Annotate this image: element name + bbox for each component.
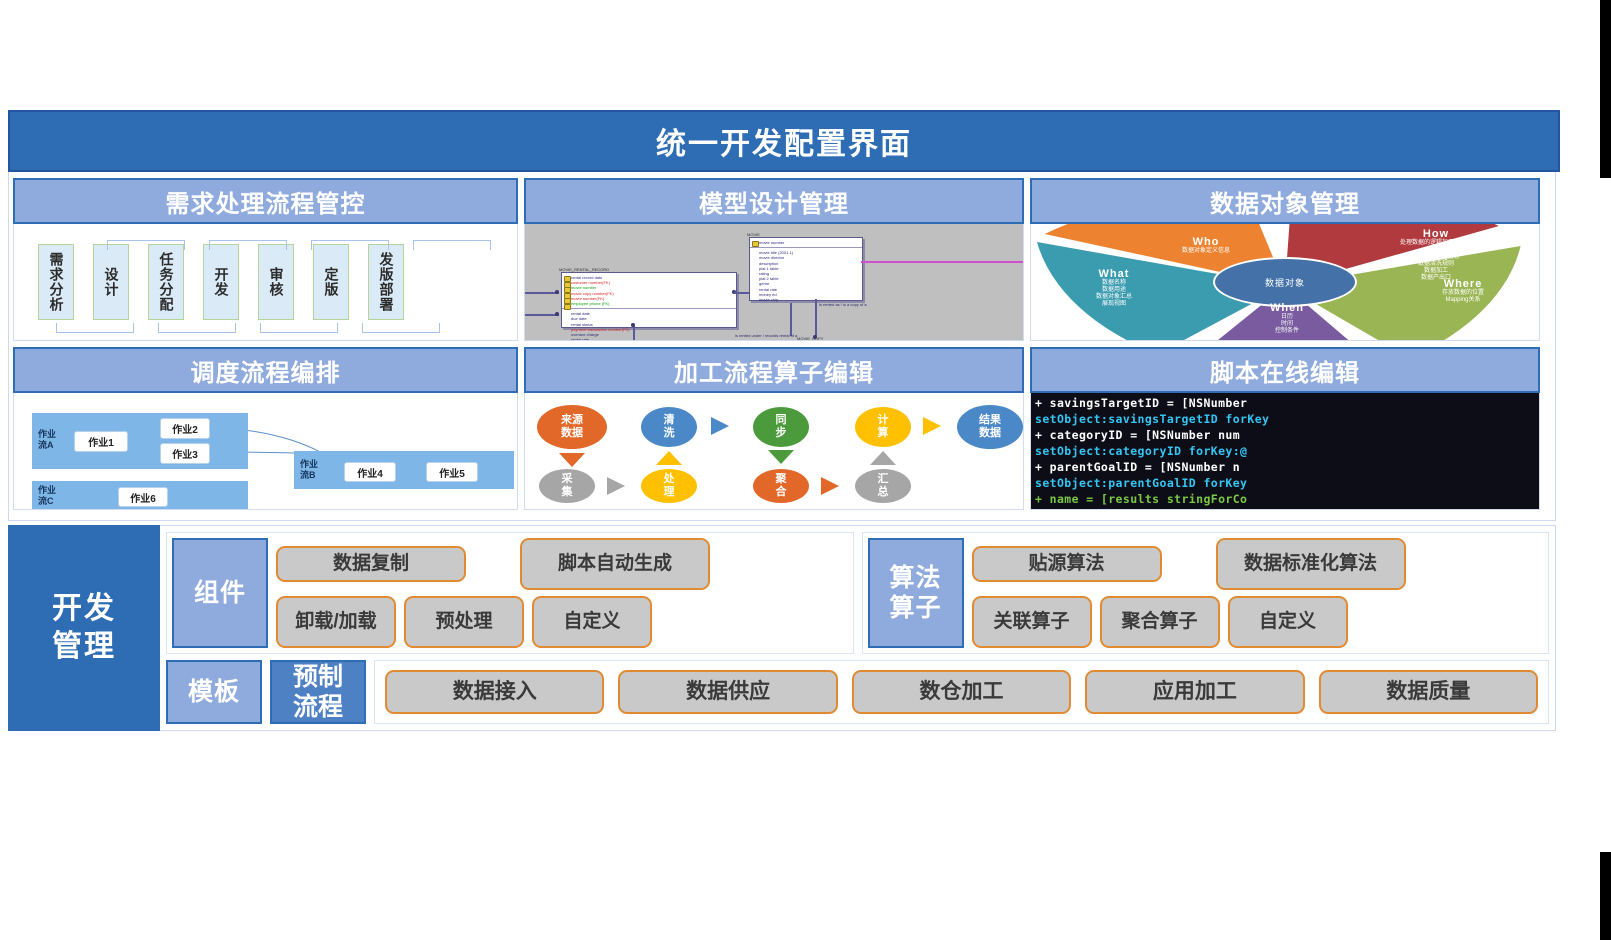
operator-label-line1: 结果	[979, 414, 1001, 427]
operator-label-line2: 合	[776, 486, 787, 499]
donut-label-what-cn: 数据对象汇总	[1049, 294, 1179, 301]
operator-label-line2: 数据	[561, 427, 583, 440]
code-line: setObject:categoryID forKey:@	[1035, 443, 1539, 459]
panel-schedule-flow-header: 调度流程编排	[13, 347, 518, 393]
donut-label-how-cn: 字段mapping信息	[1351, 254, 1521, 261]
algorithm-chip-list: 贴源算法 数据标准化算法 关联算子 聚合算子 自定义	[964, 538, 1544, 648]
step-label: 设计	[103, 267, 120, 297]
page-title: 统一开发配置界面	[8, 110, 1560, 172]
chip-unload-load[interactable]: 卸载/加载	[276, 596, 396, 648]
algorithm-group[interactable]: 算法 算子 贴源算法 数据标准化算法 关联算子 聚合算子 自定义	[862, 532, 1550, 654]
panel-schedule-flow[interactable]: 调度流程编排 作业流A 作业1 作业2	[13, 347, 518, 510]
operator-label-line2: 数据	[979, 427, 1001, 440]
arrow-right-gray-icon	[607, 477, 625, 495]
donut-label-where: Where 存放数据的位置 Mapping关系	[1393, 280, 1533, 304]
flow-connector-bottom-3	[260, 323, 338, 333]
operator-node-source[interactable]: 来源数据	[537, 405, 607, 449]
er-field: employee phone (FK)	[562, 301, 736, 306]
code-editor[interactable]: + savingsTargetID = [NSNumber setObject:…	[1031, 393, 1539, 509]
slide-root: 统一开发配置界面 需求处理流程管控 需求分析	[8, 110, 1592, 731]
operator-label-line1: 处	[664, 473, 675, 486]
arrow-right-orange-icon	[821, 477, 839, 495]
job-flow-canvas[interactable]: 作业流A 作业1 作业2 作业3 作业流B 作业4 作业5 作业流C 作业6	[14, 393, 517, 509]
chip-source-algorithm[interactable]: 贴源算法	[972, 546, 1162, 582]
donut-label-what: What 数据名称 数据用途 数据对象汇总 展现视图	[1049, 270, 1179, 308]
flow-connector-bottom-2	[158, 323, 236, 333]
donut-label-who-cn: 数据对象定义信息	[1136, 248, 1276, 255]
arrow-down-green-icon	[768, 450, 794, 464]
er-edge	[815, 299, 817, 337]
step-label: 发版部署	[378, 252, 395, 312]
arrow-right-blue-icon	[711, 417, 729, 435]
donut-label-what-en: What	[1049, 270, 1179, 278]
operator-label-line2: 集	[562, 486, 573, 499]
panel-operator-edit-body: 来源数据 采集 处理 清洗	[524, 393, 1024, 510]
dev-management-title: 开发 管理	[8, 525, 160, 731]
five-w-donut-chart[interactable]: 数据对象 Who 数据对象定义信息 How 处理数据的逻辑加工及规则 定义 字段…	[1031, 224, 1539, 340]
job-node-6[interactable]: 作业6	[118, 487, 168, 507]
job-node-4[interactable]: 作业4	[344, 462, 396, 482]
template-group[interactable]: 模板 预制 流程 数据接入 数据供应 数仓加工 应用加工 数据质量	[166, 660, 1549, 724]
algorithm-category-line1: 算法	[889, 563, 941, 593]
donut-label-how-cn: 定义	[1351, 247, 1521, 254]
step-label: 定版	[323, 267, 340, 297]
dev-title-line2: 管理	[52, 628, 116, 666]
job-node-label: 作业5	[439, 465, 465, 480]
dev-title-line1: 开发	[52, 590, 116, 628]
donut-label-when-cn: 时间	[1227, 321, 1347, 328]
operator-label-line1: 同	[776, 414, 787, 427]
operator-label-line1: 采	[562, 473, 573, 486]
dev-row-top: 组件 数据复制 脚本自动生成 卸载/加载 预处理 自定义	[166, 532, 1549, 654]
panel-script-edit[interactable]: 脚本在线编辑 + savingsTargetID = [NSNumber set…	[1030, 347, 1540, 510]
donut-label-how: How 处理数据的逻辑加工及规则 定义 字段mapping信息 数据清洗规则 数…	[1351, 230, 1521, 282]
panel-row-top: 需求处理流程管控 需求分析 设计 任务分配 开发	[13, 178, 1551, 341]
operator-node-collect[interactable]: 采集	[539, 469, 595, 503]
er-table-title: MOVIE_COPY	[797, 336, 823, 341]
step-label: 开发	[213, 267, 230, 297]
chip-custom-component[interactable]: 自定义	[532, 596, 652, 648]
operator-label-line1: 聚	[776, 473, 787, 486]
panel-schedule-flow-body: 作业流A 作业1 作业2 作业3 作业流B 作业4 作业5 作业流C 作业6	[13, 393, 518, 510]
panel-data-object-header: 数据对象管理	[1030, 178, 1540, 224]
job-node-2[interactable]: 作业2	[160, 418, 210, 439]
arrow-right-yellow-icon	[923, 417, 941, 435]
panel-operator-edit-header: 加工流程算子编辑	[524, 347, 1024, 393]
er-node	[631, 323, 635, 327]
operator-node-clean[interactable]: 清洗	[641, 407, 697, 447]
job-node-3[interactable]: 作业3	[160, 443, 210, 464]
er-field: movie number	[750, 240, 862, 245]
operator-label-line1: 清	[664, 414, 675, 427]
template-chip-list: 数据接入 数据供应 数仓加工 应用加工 数据质量	[374, 660, 1549, 724]
chip-application-processing[interactable]: 应用加工	[1085, 670, 1304, 714]
donut-center-text: 数据对象	[1265, 276, 1305, 289]
algorithm-chip-row-2: 关联算子 聚合算子 自定义	[972, 596, 1544, 648]
step-label: 任务分配	[158, 252, 175, 312]
job-group-b-label: 作业流B	[300, 459, 318, 481]
donut-label-how-cn: 数据加工	[1351, 268, 1521, 275]
donut-label-when-cn: 日历	[1227, 314, 1347, 321]
chip-preprocess[interactable]: 预处理	[404, 596, 524, 648]
flow-connector-top-4	[413, 240, 491, 250]
job-node-label: 作业3	[172, 446, 198, 461]
flow-connector-bottom-4	[362, 323, 440, 333]
donut-label-where-en: Where	[1393, 280, 1533, 288]
component-chip-list: 数据复制 脚本自动生成 卸载/加载 预处理 自定义	[268, 538, 848, 648]
panel-model-design[interactable]: 模型设计管理 MOVIE_RENTAL_RECORD	[524, 178, 1024, 341]
chip-aggregate-operator[interactable]: 聚合算子	[1100, 596, 1220, 648]
donut-label-how-en: How	[1351, 230, 1521, 238]
operator-label-line2: 理	[664, 486, 675, 499]
panel-requirement-flow-header: 需求处理流程管控	[13, 178, 518, 224]
donut-label-who-en: Who	[1136, 238, 1276, 246]
donut-label-who: Who 数据对象定义信息	[1136, 238, 1276, 255]
er-relation-label: is rented under / records rental of a	[735, 333, 797, 338]
panel-requirement-flow-body: 需求分析 设计 任务分配 开发 审核 定版 发版部署	[13, 224, 518, 341]
er-diagram[interactable]: MOVIE_RENTAL_RECORD rental record date c…	[525, 224, 1023, 340]
job-group-a-label: 作业流A	[38, 429, 56, 451]
operator-label-line2: 洗	[664, 427, 675, 440]
component-group[interactable]: 组件 数据复制 脚本自动生成 卸载/加载 预处理 自定义	[166, 532, 854, 654]
job-node-5[interactable]: 作业5	[426, 462, 478, 482]
component-category-label: 组件	[172, 538, 268, 648]
operator-node-summary[interactable]: 汇总	[855, 469, 911, 503]
code-line: setObject:parentGoalID forKey	[1035, 475, 1539, 491]
step-label: 审核	[268, 267, 285, 297]
donut-label-where-cn: Mapping关系	[1393, 297, 1533, 304]
operator-label-line1: 计	[878, 414, 889, 427]
donut-label-what-cn: 数据名称	[1049, 280, 1179, 287]
arrow-up-gray-icon	[870, 451, 896, 465]
flow-connector-top-2	[209, 240, 287, 250]
dev-row-bottom: 模板 预制 流程 数据接入 数据供应 数仓加工 应用加工 数据质量	[166, 660, 1549, 724]
er-edge	[525, 314, 559, 316]
step-box[interactable]: 开发	[203, 244, 239, 320]
arrow-up-yellow-icon	[656, 451, 682, 465]
chip-standardization-algorithm[interactable]: 数据标准化算法	[1216, 538, 1406, 590]
er-relation-label: is rented as / is a copy of a	[819, 302, 867, 307]
step-box[interactable]: 设计	[93, 244, 129, 320]
chip-warehouse-processing[interactable]: 数仓加工	[852, 670, 1071, 714]
algorithm-category-line2: 算子	[889, 593, 941, 623]
donut-label-when: When 日历 时间 控制条件	[1227, 304, 1347, 335]
template-subcategory-line1: 预制	[293, 662, 343, 692]
chip-data-ingestion[interactable]: 数据接入	[385, 670, 604, 714]
code-line: + savingsTargetID = [NSNumber	[1035, 395, 1539, 411]
operator-node-result[interactable]: 结果数据	[957, 405, 1023, 449]
er-edge	[633, 325, 635, 340]
job-group-c-label: 作业流C	[38, 485, 56, 507]
flow-connector-top-1	[107, 240, 185, 250]
step-box[interactable]: 需求分析	[38, 244, 74, 320]
code-line: + categoryID = [NSNumber num	[1035, 427, 1539, 443]
donut-label-when-cn: 控制条件	[1227, 328, 1347, 335]
template-category-label: 模板	[166, 660, 262, 724]
chip-script-auto-generation[interactable]: 脚本自动生成	[520, 538, 710, 590]
panel-operator-edit[interactable]: 加工流程算子编辑 来源数据 采集 处理	[524, 347, 1024, 510]
flow-connector-top-3	[311, 240, 389, 250]
operator-flow-canvas[interactable]: 来源数据 采集 处理 清洗	[525, 393, 1023, 509]
job-group-a[interactable]	[32, 413, 248, 469]
operator-label-line2: 总	[878, 486, 889, 499]
job-group-b[interactable]	[294, 451, 514, 489]
operator-label-line1: 来源	[561, 414, 583, 427]
er-table-movie[interactable]: movie number movie title (2001 1) movie …	[749, 237, 863, 301]
job-node-label: 作业2	[172, 421, 198, 436]
algorithm-chip-row-1: 贴源算法 数据标准化算法	[972, 538, 1544, 590]
panel-data-object-body: 数据对象 Who 数据对象定义信息 How 处理数据的逻辑加工及规则 定义 字段…	[1030, 224, 1540, 341]
job-node-1[interactable]: 作业1	[74, 431, 128, 452]
code-line: setObject:savingsTargetID forKey	[1035, 411, 1539, 427]
chip-data-quality[interactable]: 数据质量	[1319, 670, 1538, 714]
donut-label-what-cn: 展现视图	[1049, 301, 1179, 308]
donut-label-where-cn: 存放数据的位置	[1393, 290, 1533, 297]
er-edge	[525, 292, 559, 294]
step-label: 需求分析	[48, 252, 65, 312]
er-table-movie-rental-record[interactable]: rental record date customer number(FK) m…	[561, 272, 737, 328]
step-box[interactable]: 任务分配	[148, 244, 184, 320]
job-node-label: 作业1	[88, 434, 114, 449]
code-line: + name = [results stringForCo	[1035, 491, 1539, 507]
flow-connector-bottom-1	[56, 323, 134, 333]
panel-row-bottom: 调度流程编排 作业流A 作业1 作业2	[13, 347, 1551, 510]
panel-grid: 需求处理流程管控 需求分析 设计 任务分配 开发	[8, 172, 1556, 521]
panel-data-object[interactable]: 数据对象管理 数据对象	[1030, 178, 1540, 341]
dev-management-section: 开发 管理 组件 数据复制 脚本自动生成 卸载/加载 预处理	[8, 525, 1556, 731]
requirement-step-row: 需求分析 设计 任务分配 开发 审核 定版 发版部署	[14, 224, 517, 340]
donut-label-when-en: When	[1227, 304, 1347, 312]
chip-custom-operator[interactable]: 自定义	[1228, 596, 1348, 648]
operator-node-process[interactable]: 处理	[641, 469, 697, 503]
job-node-label: 作业6	[130, 490, 156, 505]
panel-script-edit-header: 脚本在线编辑	[1030, 347, 1540, 393]
code-line: setObject:name forKey:@"name"	[1035, 507, 1539, 509]
operator-label-line2: 算	[878, 427, 889, 440]
operator-label-line2: 步	[776, 427, 787, 440]
arrow-down-orange-icon	[559, 453, 585, 467]
code-line: + parentGoalID = [NSNumber n	[1035, 459, 1539, 475]
operator-node-compute[interactable]: 计算	[855, 407, 911, 447]
operator-node-aggregate[interactable]: 聚合	[753, 469, 809, 503]
donut-label-what-cn: 数据用途	[1049, 287, 1179, 294]
dev-management-content: 组件 数据复制 脚本自动生成 卸载/加载 预处理 自定义	[160, 525, 1556, 731]
step-box[interactable]: 定版	[313, 244, 349, 320]
panel-script-edit-body: + savingsTargetID = [NSNumber setObject:…	[1030, 393, 1540, 510]
panel-requirement-flow[interactable]: 需求处理流程管控 需求分析 设计 任务分配 开发	[13, 178, 518, 341]
step-box[interactable]: 审核	[258, 244, 294, 320]
template-subcategory-label: 预制 流程	[270, 660, 366, 724]
er-node	[555, 290, 559, 294]
er-field: rental rate	[562, 337, 736, 341]
chip-data-replication[interactable]: 数据复制	[276, 546, 466, 582]
er-edge-highlight	[861, 261, 1024, 263]
er-node	[555, 312, 559, 316]
panel-model-design-body: MOVIE_RENTAL_RECORD rental record date c…	[524, 224, 1024, 341]
algorithm-category-label: 算法 算子	[868, 538, 964, 648]
right-edge-bar-bottom	[1600, 852, 1611, 940]
component-chip-row-1: 数据复制 脚本自动生成	[276, 538, 848, 590]
right-edge-bar-top	[1600, 0, 1611, 178]
donut-center-label: 数据对象	[1213, 257, 1357, 307]
chip-join-operator[interactable]: 关联算子	[972, 596, 1092, 648]
step-box[interactable]: 发版部署	[368, 244, 404, 320]
panel-model-design-header: 模型设计管理	[524, 178, 1024, 224]
donut-label-how-cn: 数据清洗规则	[1351, 261, 1521, 268]
chip-data-supply[interactable]: 数据供应	[618, 670, 837, 714]
template-subcategory-line2: 流程	[293, 692, 343, 722]
component-chip-row-2: 卸载/加载 预处理 自定义	[276, 596, 848, 648]
operator-label-line1: 汇	[878, 473, 889, 486]
operator-node-sync[interactable]: 同步	[753, 407, 809, 447]
job-node-label: 作业4	[357, 465, 383, 480]
donut-label-how-cn: 处理数据的逻辑加工及规则	[1351, 240, 1521, 247]
